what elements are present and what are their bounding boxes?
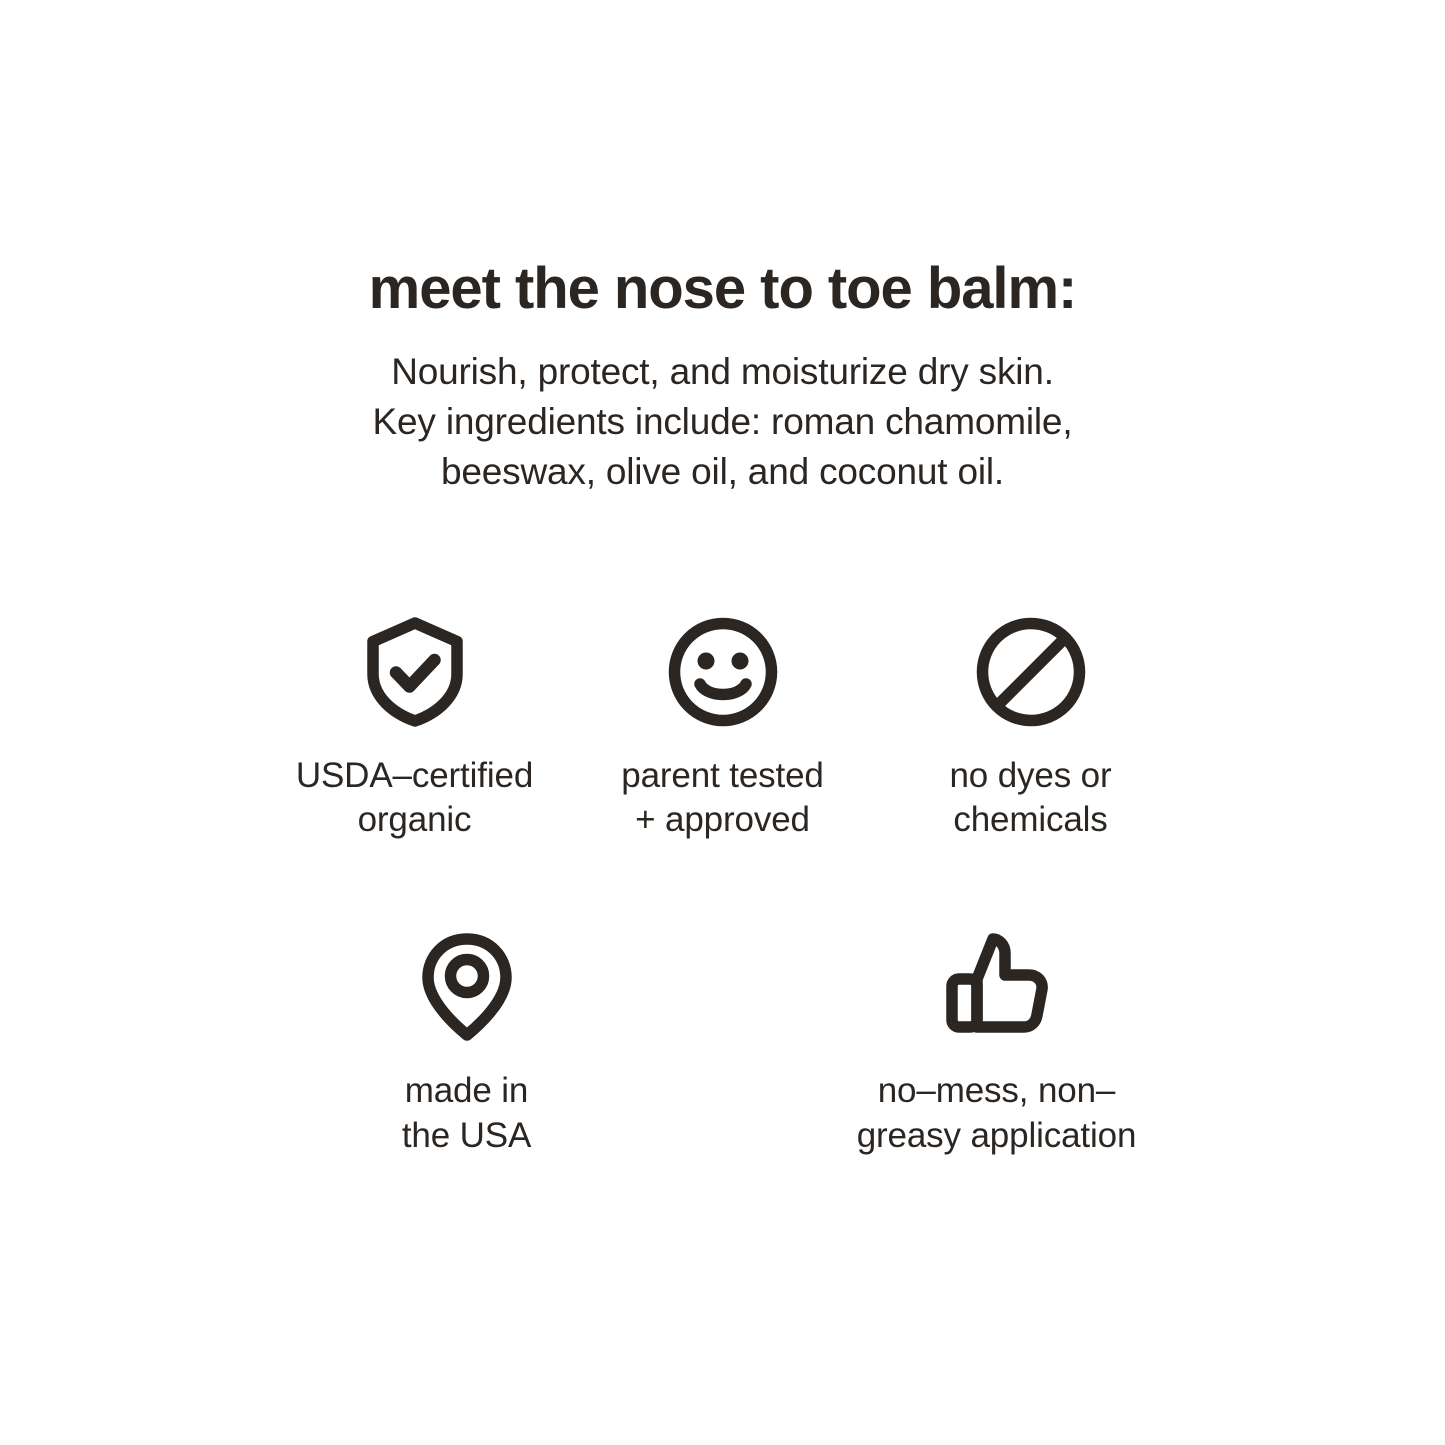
feature-label: no–mess, non– greasy application xyxy=(857,1069,1137,1159)
feature-label-line-1: no–mess, non– xyxy=(857,1069,1137,1114)
smiley-face-icon xyxy=(667,616,779,728)
product-highlights-panel: meet the nose to toe balm: Nourish, prot… xyxy=(0,0,1445,1445)
feature-no-mess-non-greasy-application: no–mess, non– greasy application xyxy=(847,931,1147,1159)
feature-label-line-2: organic xyxy=(296,798,533,843)
feature-label-line-1: no dyes or xyxy=(949,754,1111,799)
description-line-2: Key ingredients include: roman chamomile… xyxy=(0,397,1445,447)
shield-check-icon xyxy=(362,616,468,728)
feature-label-line-2: chemicals xyxy=(949,798,1111,843)
page-title: meet the nose to toe balm: xyxy=(0,258,1445,321)
prohibition-icon xyxy=(975,616,1087,728)
product-description: Nourish, protect, and moisturize dry ski… xyxy=(0,347,1445,498)
feature-label-line-2: + approved xyxy=(621,798,824,843)
description-line-3: beeswax, olive oil, and coconut oil. xyxy=(0,447,1445,497)
feature-usda-certified-organic: USDA–certified organic xyxy=(265,616,565,844)
feature-label-line-2: greasy application xyxy=(857,1114,1137,1159)
feature-label: USDA–certified organic xyxy=(296,754,533,844)
feature-label-line-1: parent tested xyxy=(621,754,824,799)
feature-label-line-1: made in xyxy=(402,1069,531,1114)
feature-label: parent tested + approved xyxy=(621,754,824,844)
description-line-1: Nourish, protect, and moisturize dry ski… xyxy=(0,347,1445,397)
feature-parent-tested-approved: parent tested + approved xyxy=(573,616,873,844)
feature-grid: USDA–certified organic parent tested + a… xyxy=(133,616,1313,1159)
intro-block: meet the nose to toe balm: Nourish, prot… xyxy=(0,258,1445,498)
feature-label: made in the USA xyxy=(402,1069,531,1159)
feature-row-bottom: made in the USA no–mess, non– greasy app… xyxy=(133,931,1313,1159)
map-pin-icon xyxy=(418,931,516,1043)
thumbs-up-icon xyxy=(941,931,1053,1043)
feature-made-in-the-usa: made in the USA xyxy=(317,931,617,1159)
feature-label-line-2: the USA xyxy=(402,1114,531,1159)
feature-label-line-1: USDA–certified xyxy=(296,754,533,799)
feature-no-dyes-or-chemicals: no dyes or chemicals xyxy=(881,616,1181,844)
feature-label: no dyes or chemicals xyxy=(949,754,1111,844)
feature-row-top: USDA–certified organic parent tested + a… xyxy=(133,616,1313,844)
